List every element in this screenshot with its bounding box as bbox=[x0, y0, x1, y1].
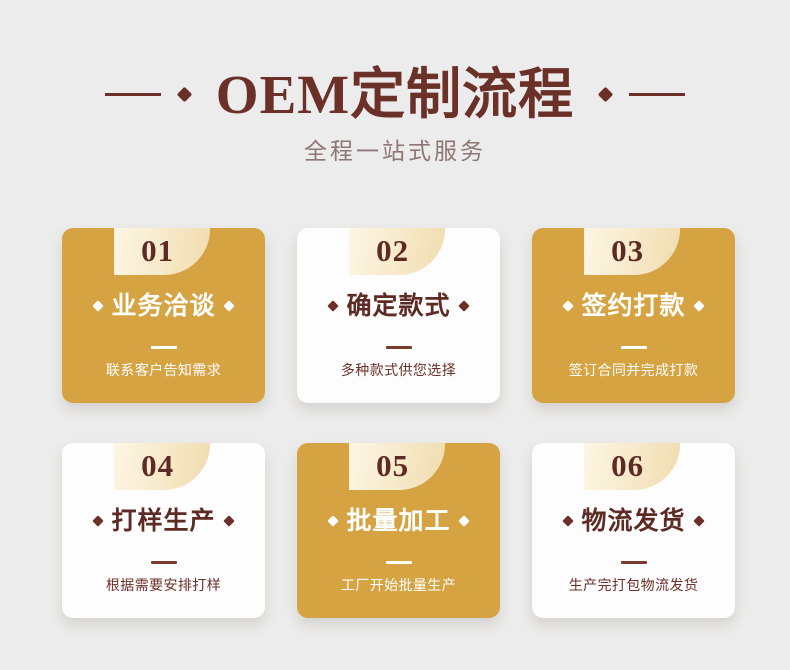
step-title: 签约打款 bbox=[581, 294, 685, 319]
step-body: 业务洽谈 联系客户告知需求 bbox=[62, 275, 265, 403]
step-divider bbox=[621, 346, 647, 349]
step-body: 签约打款 签订合同并完成打款 bbox=[532, 275, 735, 403]
diamond-bullet-icon bbox=[563, 300, 574, 311]
step-title: 打样生产 bbox=[111, 509, 215, 534]
step-number-tab: 06 bbox=[584, 443, 680, 490]
title-row: OEM定制流程 bbox=[0, 58, 790, 130]
step-title: 业务洽谈 bbox=[111, 294, 215, 319]
step-number: 01 bbox=[141, 235, 182, 268]
step-number: 03 bbox=[611, 235, 652, 268]
step-title-row: 批量加工 bbox=[329, 506, 467, 536]
diamond-bullet-icon bbox=[93, 515, 104, 526]
decoration-diamond-icon bbox=[177, 86, 193, 102]
diamond-bullet-icon bbox=[223, 515, 234, 526]
step-card: 01 业务洽谈 联系客户告知需求 bbox=[62, 228, 265, 403]
step-title: 确定款式 bbox=[346, 294, 450, 319]
step-title-row: 物流发货 bbox=[564, 506, 702, 536]
diamond-bullet-icon bbox=[693, 515, 704, 526]
diamond-bullet-icon bbox=[223, 300, 234, 311]
step-title: 物流发货 bbox=[581, 509, 685, 534]
page-header: OEM定制流程 全程一站式服务 bbox=[0, 0, 790, 200]
step-body: 打样生产 根据需要安排打样 bbox=[62, 490, 265, 618]
step-description: 生产完打包物流发货 bbox=[569, 578, 699, 592]
step-number-tab: 03 bbox=[584, 228, 680, 275]
page-title: OEM定制流程 bbox=[216, 67, 574, 122]
decoration-diamond-icon bbox=[598, 86, 614, 102]
step-divider bbox=[151, 561, 177, 564]
step-card: 04 打样生产 根据需要安排打样 bbox=[62, 443, 265, 618]
process-steps-grid: 01 业务洽谈 联系客户告知需求 02 确定款式 多种款式供您选择 bbox=[62, 228, 736, 620]
step-title-row: 业务洽谈 bbox=[94, 291, 232, 321]
step-number: 05 bbox=[376, 450, 417, 483]
step-number-tab: 01 bbox=[114, 228, 210, 275]
step-divider bbox=[621, 561, 647, 564]
step-card: 02 确定款式 多种款式供您选择 bbox=[297, 228, 500, 403]
step-divider bbox=[386, 346, 412, 349]
step-divider bbox=[151, 346, 177, 349]
step-title-row: 打样生产 bbox=[94, 506, 232, 536]
title-decoration-right bbox=[600, 89, 685, 100]
step-number-tab: 04 bbox=[114, 443, 210, 490]
diamond-bullet-icon bbox=[563, 515, 574, 526]
step-number: 04 bbox=[141, 450, 182, 483]
step-title-row: 确定款式 bbox=[329, 291, 467, 321]
step-card: 03 签约打款 签订合同并完成打款 bbox=[532, 228, 735, 403]
step-description: 联系客户告知需求 bbox=[106, 363, 221, 377]
step-title: 批量加工 bbox=[346, 509, 450, 534]
step-description: 签订合同并完成打款 bbox=[569, 363, 699, 377]
diamond-bullet-icon bbox=[93, 300, 104, 311]
decoration-line-icon bbox=[629, 93, 685, 96]
step-description: 多种款式供您选择 bbox=[341, 363, 456, 377]
step-body: 批量加工 工厂开始批量生产 bbox=[297, 490, 500, 618]
diamond-bullet-icon bbox=[328, 300, 339, 311]
decoration-line-icon bbox=[105, 93, 161, 96]
step-body: 确定款式 多种款式供您选择 bbox=[297, 275, 500, 403]
step-number-tab: 02 bbox=[349, 228, 445, 275]
step-title-row: 签约打款 bbox=[564, 291, 702, 321]
step-number: 06 bbox=[611, 450, 652, 483]
diamond-bullet-icon bbox=[458, 515, 469, 526]
title-decoration-left bbox=[105, 89, 190, 100]
step-description: 工厂开始批量生产 bbox=[341, 578, 456, 592]
page-subtitle: 全程一站式服务 bbox=[0, 140, 790, 163]
diamond-bullet-icon bbox=[328, 515, 339, 526]
step-description: 根据需要安排打样 bbox=[106, 578, 221, 592]
step-divider bbox=[386, 561, 412, 564]
step-card: 06 物流发货 生产完打包物流发货 bbox=[532, 443, 735, 618]
step-body: 物流发货 生产完打包物流发货 bbox=[532, 490, 735, 618]
step-card: 05 批量加工 工厂开始批量生产 bbox=[297, 443, 500, 618]
diamond-bullet-icon bbox=[458, 300, 469, 311]
step-number: 02 bbox=[376, 235, 417, 268]
step-number-tab: 05 bbox=[349, 443, 445, 490]
diamond-bullet-icon bbox=[693, 300, 704, 311]
